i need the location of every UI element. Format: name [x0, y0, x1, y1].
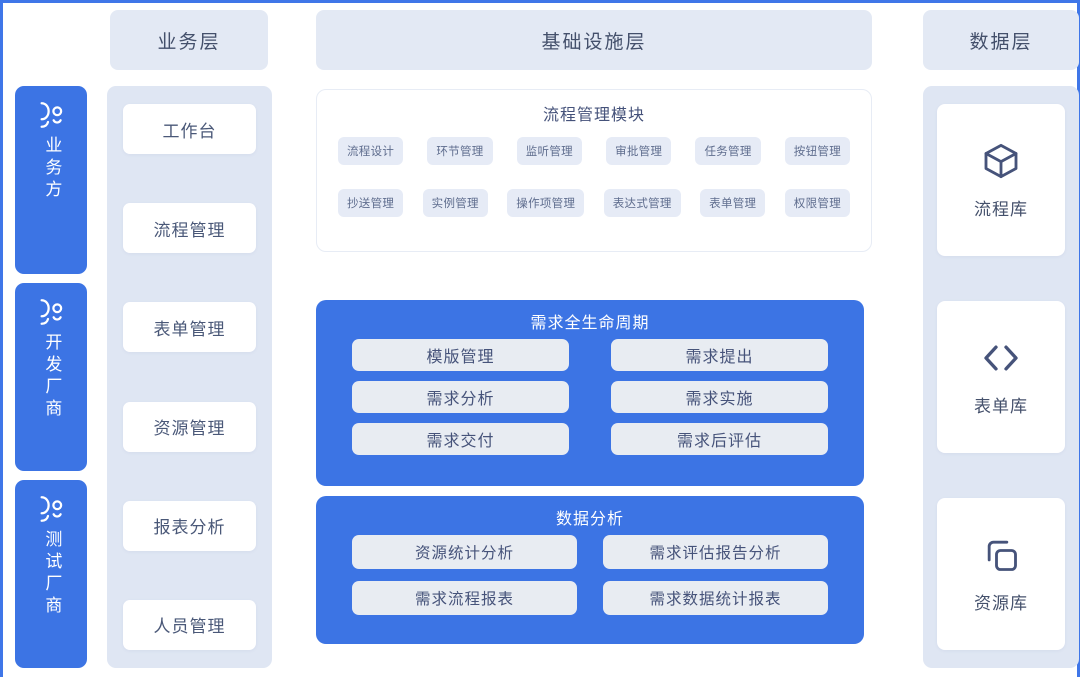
users-icon — [36, 295, 66, 329]
data-label: 资源库 — [974, 589, 1028, 614]
data-analytics-panel: 数据分析 资源统计分析 需求评估报告分析 需求流程报表 需求数据统计报表 — [316, 496, 864, 644]
actor-label: 测试厂商 — [42, 530, 61, 618]
infrastructure-layer-column: 流程管理模块 流程设计 环节管理 监听管理 审批管理 任务管理 按钮管理 抄送管… — [316, 86, 872, 668]
actor-label: 开发厂商 — [42, 333, 61, 421]
tag-process-design[interactable]: 流程设计 — [338, 137, 403, 165]
process-module-title: 流程管理模块 — [331, 101, 857, 125]
actor-card-test-vendor[interactable]: 测试厂商 — [15, 480, 87, 668]
business-item-workbench[interactable]: 工作台 — [123, 104, 256, 154]
column-header-data-layer: 数据层 — [923, 10, 1079, 70]
process-management-module-card: 流程管理模块 流程设计 环节管理 监听管理 审批管理 任务管理 按钮管理 抄送管… — [316, 89, 872, 252]
actor-label: 业务方 — [42, 136, 61, 202]
lifecycle-item-post-requirement-evaluation[interactable]: 需求后评估 — [611, 423, 828, 455]
tag-approval-management[interactable]: 审批管理 — [606, 137, 671, 165]
lifecycle-item-template-management[interactable]: 模版管理 — [352, 339, 569, 371]
tag-listener-management[interactable]: 监听管理 — [517, 137, 582, 165]
tag-form-management[interactable]: 表单管理 — [700, 189, 765, 217]
data-label: 流程库 — [974, 195, 1028, 220]
data-layer-column: 流程库 表单库 资源库 — [923, 86, 1079, 668]
actor-card-dev-vendor[interactable]: 开发厂商 — [15, 283, 87, 471]
analytics-item-requirement-data-statistics-report[interactable]: 需求数据统计报表 — [603, 581, 828, 615]
architecture-diagram: 业务方 开发厂商 测试厂商 业务层 基础设施层 数据层 工作台 — [0, 0, 1080, 677]
analytics-grid: 资源统计分析 需求评估报告分析 需求流程报表 需求数据统计报表 — [352, 535, 828, 615]
tag-instance-management[interactable]: 实例管理 — [423, 189, 488, 217]
tag-task-management[interactable]: 任务管理 — [695, 137, 760, 165]
business-item-personnel-management[interactable]: 人员管理 — [123, 600, 256, 650]
tag-cc-management[interactable]: 抄送管理 — [338, 189, 403, 217]
analytics-item-requirement-evaluation-report[interactable]: 需求评估报告分析 — [603, 535, 828, 569]
users-icon — [36, 492, 66, 526]
data-card-process-library[interactable]: 流程库 — [937, 104, 1065, 256]
analytics-title: 数据分析 — [352, 505, 828, 529]
tag-node-management[interactable]: 环节管理 — [427, 137, 492, 165]
requirement-lifecycle-panel: 需求全生命周期 模版管理 需求提出 需求分析 需求实施 需求交付 需求后评估 — [316, 300, 864, 486]
tag-button-management[interactable]: 按钮管理 — [785, 137, 850, 165]
lifecycle-title: 需求全生命周期 — [352, 309, 828, 333]
copy-layers-icon — [981, 535, 1021, 575]
process-tag-row-1: 流程设计 环节管理 监听管理 审批管理 任务管理 按钮管理 — [331, 137, 857, 165]
lifecycle-item-requirement-implementation[interactable]: 需求实施 — [611, 381, 828, 413]
column-header-business-layer: 业务层 — [110, 10, 268, 70]
tag-permission-management[interactable]: 权限管理 — [785, 189, 850, 217]
lifecycle-item-requirement-analysis[interactable]: 需求分析 — [352, 381, 569, 413]
business-layer-column: 工作台 流程管理 表单管理 资源管理 报表分析 人员管理 — [107, 86, 272, 668]
tag-expression-management[interactable]: 表达式管理 — [604, 189, 681, 217]
lifecycle-item-requirement-proposal[interactable]: 需求提出 — [611, 339, 828, 371]
actor-card-business-side[interactable]: 业务方 — [15, 86, 87, 274]
tag-operation-item-management[interactable]: 操作项管理 — [507, 189, 584, 217]
process-tag-row-2: 抄送管理 实例管理 操作项管理 表达式管理 表单管理 权限管理 — [331, 189, 857, 217]
business-item-process-management[interactable]: 流程管理 — [123, 203, 256, 253]
lifecycle-item-requirement-delivery[interactable]: 需求交付 — [352, 423, 569, 455]
business-item-report-analysis[interactable]: 报表分析 — [123, 501, 256, 551]
code-brackets-icon — [981, 338, 1021, 378]
column-header-infrastructure-layer: 基础设施层 — [316, 10, 872, 70]
cube-icon — [981, 141, 1021, 181]
actor-rail: 业务方 开发厂商 测试厂商 — [15, 86, 87, 668]
analytics-item-resource-statistics[interactable]: 资源统计分析 — [352, 535, 577, 569]
analytics-item-requirement-process-report[interactable]: 需求流程报表 — [352, 581, 577, 615]
data-label: 表单库 — [974, 392, 1028, 417]
lifecycle-grid: 模版管理 需求提出 需求分析 需求实施 需求交付 需求后评估 — [352, 339, 828, 455]
business-item-resource-management[interactable]: 资源管理 — [123, 402, 256, 452]
data-card-resource-library[interactable]: 资源库 — [937, 498, 1065, 650]
users-icon — [36, 98, 66, 132]
data-card-form-library[interactable]: 表单库 — [937, 301, 1065, 453]
business-item-form-management[interactable]: 表单管理 — [123, 302, 256, 352]
